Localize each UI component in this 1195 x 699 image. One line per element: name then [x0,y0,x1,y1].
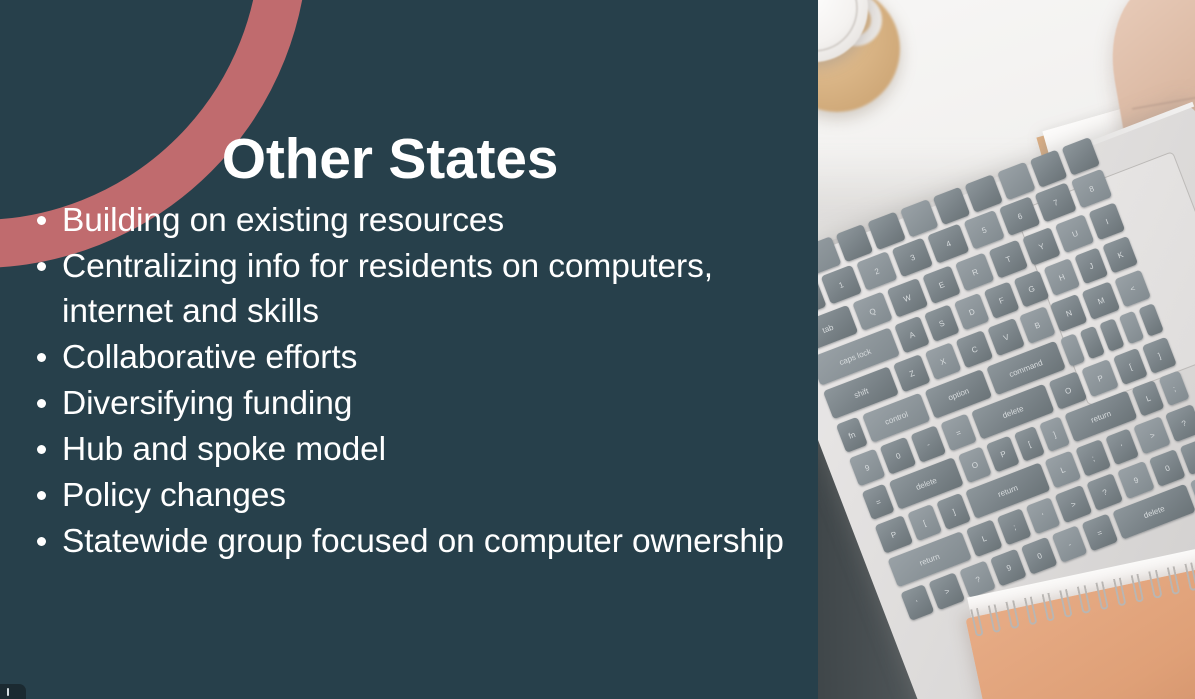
notebook-page [1042,74,1195,353]
keyboard-key [965,174,1003,213]
spiral-coil [970,608,984,637]
keyboard-key: - [910,425,945,462]
keyboard-key: D [954,293,990,331]
keyboard-row: tabQWERTYUI [818,202,1125,352]
keyboard-row: returnL;'>?90- [887,438,1195,588]
keyboard-key: ? [1165,404,1195,442]
keyboard-key [868,211,906,250]
spiral-coil [1059,589,1073,618]
keyboard-key: X [924,342,961,380]
keyboard-key: 9 [849,449,886,487]
hand [1099,0,1195,218]
keyboard-key: < [1114,270,1151,308]
keyboard-key: C [956,330,994,368]
keyboard-key: 5 [963,210,1005,250]
keyboard-key: = [862,484,895,521]
keyboard-key: return [887,531,971,587]
keyboard-key [997,162,1035,201]
spiral-binding-coils [970,547,1195,639]
keyboard-key: shift [823,366,899,419]
keyboard-key: N [1050,294,1088,332]
coffee-cup [818,0,868,62]
keyboard-key: > [1133,416,1171,454]
wooden-coaster [818,0,900,112]
keyboard-key: 0 [1149,449,1186,487]
keyboard-key: J [1074,247,1109,284]
bullet-point-icon [37,445,46,454]
laptop-body [818,104,1195,699]
bullet-text: Centralizing info for residents on compu… [62,244,830,335]
keyboard-key: W [886,278,927,318]
laptop-keyboard: esc~12345678tabQWERTYUIcaps lockASDFGHJK… [818,135,1195,696]
keyboard-key: ; [997,508,1032,545]
bullet-text: Policy changes [62,473,830,518]
keyboard-key: [ [1014,426,1045,462]
keyboard-key: O [1190,471,1195,510]
keyboard-key [1029,149,1067,188]
keyboard-key: L [1132,380,1165,417]
keyboard-key [1099,318,1125,352]
keyboard-key: P [875,515,913,554]
keyboard-key: O [1049,371,1088,410]
keyboard-key: L [1044,450,1082,488]
keyboard-key: > [1055,485,1093,523]
finger-crease [1150,151,1195,165]
keyboard-key: R [955,252,995,291]
keyboard-key: ' [1026,497,1061,534]
slide-photo: esc~12345678tabQWERTYUIcaps lockASDFGHJK… [818,0,1195,699]
keyboard-key [835,224,873,263]
spiral-coil [1006,600,1020,629]
keyboard-row: '>?90-=deleteO [900,471,1195,621]
keyboard-key: P [986,435,1020,472]
spiral-coil [1024,596,1038,625]
keyboard-key: Y [1022,227,1061,266]
keyboard-key: 9 [1117,461,1154,499]
keyboard-row: P[]returnL;'>? [875,404,1195,554]
bullet-text: Building on existing resources [62,198,830,243]
keyboard-key [1138,303,1164,337]
keyboard-key: caps lock [818,327,900,385]
bullet-point-icon [37,353,46,362]
keyboard-key: = [940,413,977,451]
keyboard-key [1118,311,1144,345]
keyboard-key: K [1102,236,1138,274]
spiral-coil [1149,570,1163,599]
keyboard-key: ; [1075,439,1110,476]
keyboard-key: P [1081,359,1119,397]
keyboard-key [932,187,970,226]
keyboard-key: U [1055,214,1095,253]
keyboard-key: > [928,572,965,610]
keyboard-key: F [984,282,1019,319]
spiral-coil [1166,566,1180,595]
keyboard-key: 8 [1071,169,1113,209]
bullet-text: Diversifying funding [62,381,830,426]
laptop-hinge [818,323,965,692]
keyboard-row: =deleteOP[]returnL; [862,370,1190,520]
bullet-text: Collaborative efforts [62,335,830,380]
keyboard-key: 3 [892,237,934,277]
keyboard-key: delete [889,457,964,510]
laptop-screen [818,360,961,699]
desk-surface [818,0,1195,699]
keyboard-key: O [957,446,992,483]
bullet-text: Hub and spoke model [62,427,830,472]
keyboard-row: shiftZXCVBNM< [823,270,1151,420]
keyboard-key: ? [959,560,996,598]
spiral-coil [1131,574,1145,603]
keyboard-key: [ [907,504,942,541]
keyboard-key: T [989,240,1028,279]
keyboard-key: M [1082,281,1121,320]
keyboard-key: 0 [1021,537,1058,575]
notebook-rule-line [1124,227,1195,264]
keyboard-key: control [862,393,931,443]
keyboard-key: 9 [990,548,1027,586]
bullet-point-icon [37,537,46,546]
keyboard-row: esc [818,137,1100,287]
bullet-text: Statewide group focused on computer owne… [62,519,830,564]
keyboard-key: I [1089,202,1125,240]
list-item: Policy changes [30,473,830,518]
keyboard-key: ; [1159,370,1190,406]
spiral-coil [988,604,1002,633]
bullet-point-icon [37,491,46,500]
spiral-coil [1095,581,1109,610]
keyboard-key [900,199,938,238]
slide-canvas: Other States Building on existing resour… [0,0,1195,699]
cup-handle [830,0,882,46]
cup-rim [818,0,858,52]
keyboard-key: - [1180,438,1195,476]
keyboard-key: ' [900,584,934,621]
control-chip-bar [7,688,9,696]
list-item: Building on existing resources [30,198,830,243]
keyboard-key: option [925,369,992,419]
keyboard-key: G [1013,270,1050,308]
keyboard-row: caps lockASDFGHJK [818,236,1138,386]
keyboard-row: fncontroloptioncommand [836,303,1164,453]
list-item: Collaborative efforts [30,335,830,380]
list-item: Statewide group focused on computer owne… [30,519,830,564]
keyboard-key: 0 [880,437,917,475]
keyboard-key: V [987,318,1024,356]
keyboard-key [1062,137,1100,176]
keyboard-key: A [894,316,930,354]
keyboard-key: ' [1105,428,1140,465]
keyboard-key: ] [1039,416,1070,452]
keyboard-key: ] [1142,337,1177,374]
keyboard-key: H [1044,258,1080,296]
spiral-coil [1077,585,1091,614]
list-item: Centralizing info for residents on compu… [30,244,830,335]
bullet-point-icon [37,262,46,271]
keyboard-key: - [1052,525,1087,562]
keyboard-key [1079,326,1105,360]
keyboard-key: delete [971,384,1055,440]
keyboard-key: 2 [856,251,898,291]
slide-bullet-list: Building on existing resources Centraliz… [30,198,830,565]
slide-title: Other States [0,130,780,190]
notebook-edge [1036,79,1195,359]
list-item: Diversifying funding [30,381,830,426]
keyboard-key: delete [1112,484,1195,540]
bullet-point-icon [37,216,46,225]
keyboard-key: [ [1113,348,1148,385]
keyboard-key: L [965,519,1002,557]
keyboard-key: ? [1086,473,1123,511]
keyboard-key: 4 [927,224,969,264]
keyboard-key: B [1019,306,1056,344]
spiral-coil [1184,562,1195,591]
keyboard-row: ~12345678 [818,169,1112,319]
desk-shadow [818,150,1195,270]
keyboard-key [1059,333,1085,367]
keyboard-key: S [924,304,960,342]
finger-crease [1141,123,1195,139]
keyboard-key: E [922,265,961,304]
keyboard-key: = [1081,514,1118,552]
keyboard-key: command [986,341,1066,395]
bullet-point-icon [37,399,46,408]
spiral-notebook-cover [965,561,1195,699]
keyboard-key: return [1064,390,1138,442]
keyboard-row: 90-=deleteOP[] [849,337,1177,487]
finger-crease [1132,92,1195,109]
notebook-rule-line [1121,196,1195,236]
bottom-left-control-chip[interactable] [0,684,26,699]
keyboard-key: 6 [999,196,1041,236]
keyboard-key: return [965,463,1050,519]
spiral-coil [1113,577,1127,606]
spiral-notebook-page [967,535,1195,636]
list-item: Hub and spoke model [30,427,830,472]
keyboard-key: Q [852,292,892,331]
laptop-trackpad [1014,151,1195,406]
spiral-coil [1042,593,1056,622]
keyboard-key: 7 [1035,182,1077,222]
laptop-top-edge [818,102,1194,275]
keyboard-key: ] [936,493,971,530]
keyboard-key: fn [836,417,868,453]
keyboard-key: Z [893,354,930,392]
slide-text-panel: Other States Building on existing resour… [0,0,818,699]
